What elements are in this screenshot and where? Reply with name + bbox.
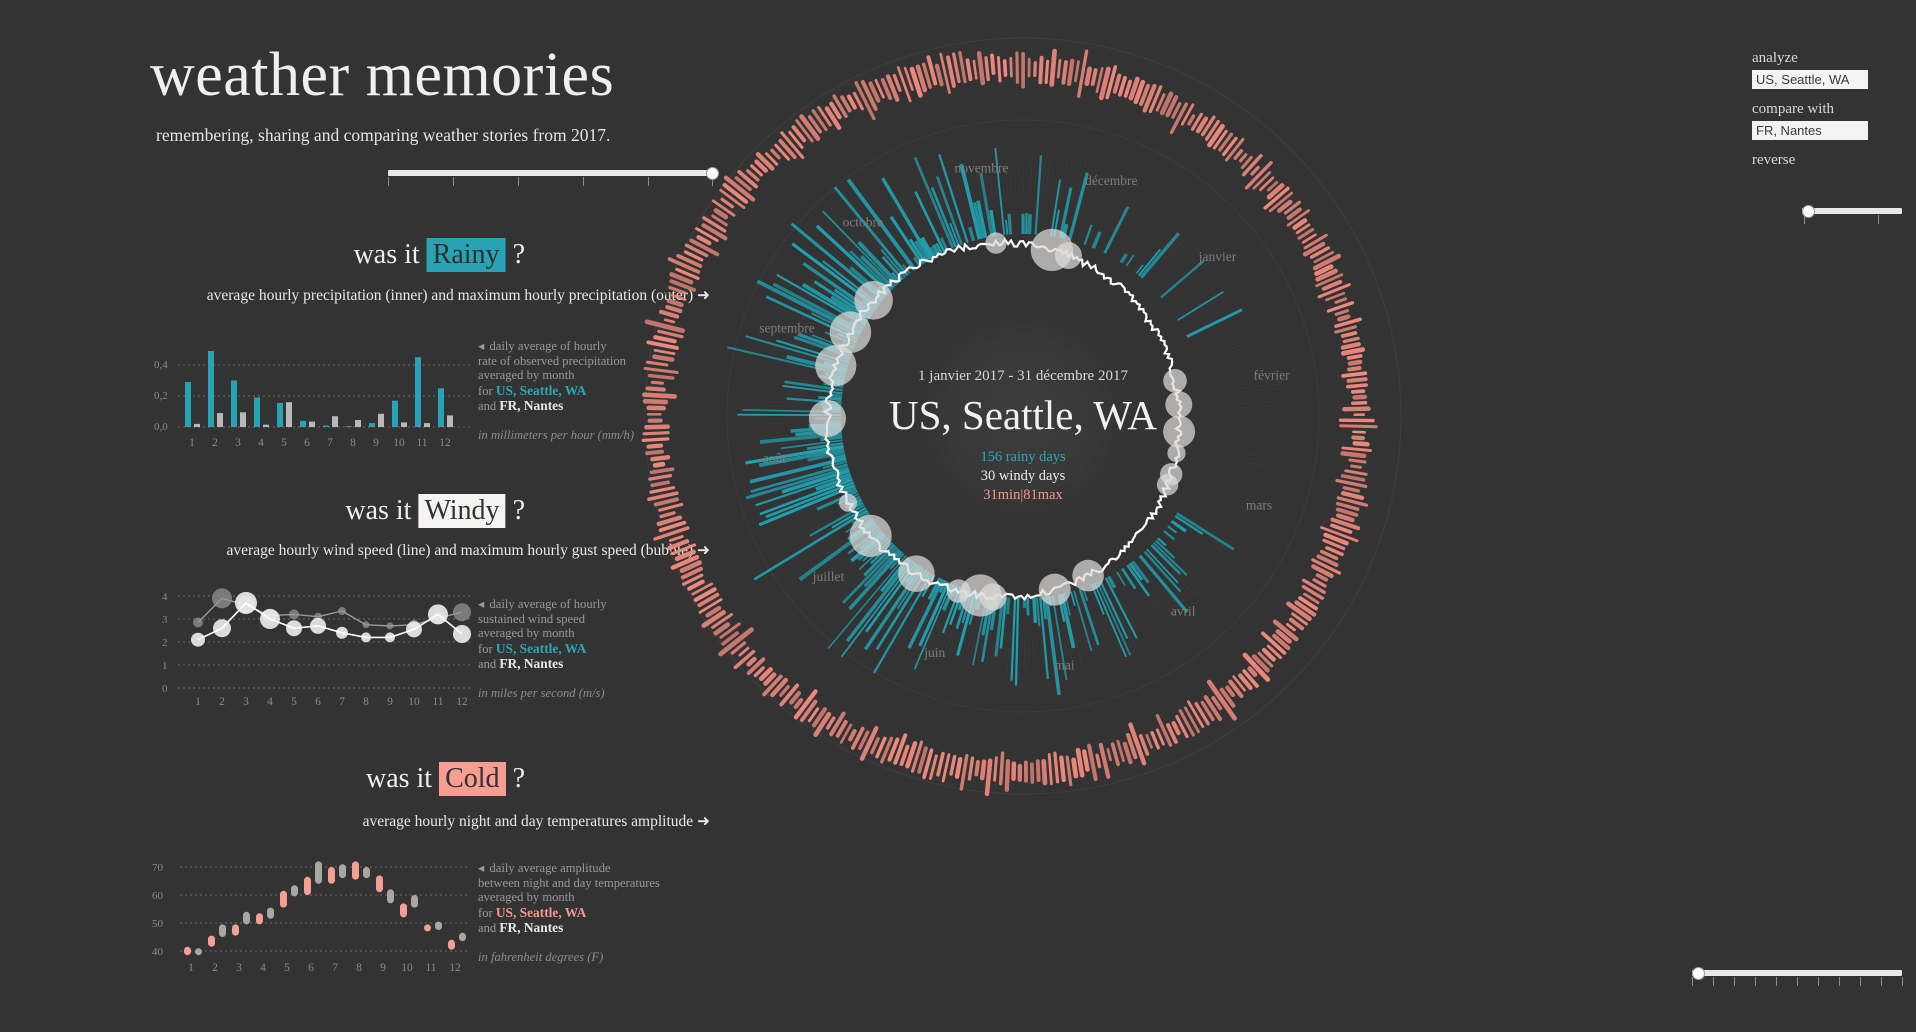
legend-arrow-icon: ◂ — [478, 597, 486, 611]
temp-gridlines — [180, 867, 470, 951]
temp-ytick-60: 60 — [152, 890, 164, 902]
svg-text:5: 5 — [284, 962, 290, 974]
heading-suffix: ? — [513, 495, 525, 526]
slider-handle[interactable] — [1802, 205, 1815, 218]
month-label-novembre: novembre — [955, 160, 1009, 175]
month-label-septembre: septembre — [759, 321, 814, 336]
temperature-chart[interactable]: 70 60 50 40 — [140, 845, 475, 975]
svg-text:10: 10 — [408, 696, 420, 708]
legend-secondary-city: FR, Nantes — [499, 398, 563, 413]
heading-prefix: was it — [366, 763, 432, 794]
svg-text:2: 2 — [212, 437, 218, 449]
svg-text:6: 6 — [315, 696, 321, 708]
section-heading-rainy: was it Rainy ? — [354, 239, 525, 271]
weather-memories-app: weather memories remembering, sharing an… — [0, 0, 1916, 1032]
wind-chart[interactable]: 4 3 2 1 0 — [150, 583, 475, 708]
legend-arrow-icon: ◂ — [478, 339, 486, 353]
legend-for-label: for — [478, 642, 493, 656]
legend-line-3: averaged by month — [478, 368, 634, 383]
legend-line-2: sustained wind speed — [478, 612, 607, 627]
svg-text:9: 9 — [387, 696, 393, 708]
analyze-select[interactable]: US, Seattle, WA — [1752, 70, 1868, 89]
svg-text:12: 12 — [449, 962, 461, 974]
slider-track[interactable] — [1692, 970, 1902, 976]
radial-svg[interactable]: 1 janvier 2017 - 31 décembre 2017 US, Se… — [620, 0, 1720, 1032]
svg-text:4: 4 — [267, 696, 273, 708]
legend-arrow-icon: ◂ — [478, 861, 486, 875]
month-label-juin: juin — [923, 645, 945, 660]
wind-legend: ◂ daily average of hourly sustained wind… — [478, 597, 607, 701]
center-rainy-days: 156 rainy days — [980, 449, 1066, 465]
heading-keyword-rainy[interactable]: Rainy — [427, 238, 506, 272]
svg-text:4: 4 — [260, 962, 266, 974]
slider-ticks — [1802, 215, 1902, 224]
wind-bubbles-nantes — [193, 588, 471, 630]
reverse-slider[interactable] — [1802, 204, 1902, 224]
legend-primary-city: US, Seattle, WA — [496, 383, 587, 398]
legend-line-1: daily average of hourly — [489, 597, 606, 611]
svg-text:7: 7 — [327, 437, 333, 449]
svg-text:1: 1 — [188, 962, 194, 974]
month-label-avril: avril — [1171, 604, 1196, 619]
svg-text:5: 5 — [291, 696, 297, 708]
analyze-label: analyze — [1752, 50, 1902, 67]
heading-suffix: ? — [513, 763, 525, 794]
legend-secondary-city: FR, Nantes — [499, 656, 563, 671]
svg-text:3: 3 — [235, 437, 241, 449]
compare-select[interactable]: FR, Nantes — [1752, 121, 1868, 140]
svg-text:12: 12 — [439, 437, 451, 449]
radial-root: 1 janvier 2017 - 31 décembre 2017 US, Se… — [643, 38, 1401, 794]
heading-keyword-cold[interactable]: Cold — [439, 762, 505, 796]
wind-xticks: 1 2 3 4 5 6 7 8 9 10 11 12 — [195, 696, 468, 708]
svg-text:10: 10 — [393, 437, 405, 449]
page-subtitle: remembering, sharing and comparing weath… — [156, 125, 610, 146]
legend-line-2: rate of observed precipitation — [478, 354, 634, 369]
month-label-octobre: octobre — [843, 215, 883, 230]
slider-ticks — [1692, 977, 1902, 986]
month-label-février: février — [1254, 368, 1290, 383]
legend-primary-city: US, Seattle, WA — [496, 641, 587, 656]
legend-for-label: for — [478, 906, 493, 920]
page-title: weather memories — [150, 40, 614, 111]
svg-text:8: 8 — [363, 696, 369, 708]
precipitation-chart[interactable]: 0,0 0,2 0,4 — [140, 330, 470, 450]
slider-handle[interactable] — [1692, 967, 1705, 980]
wind-ytick-4: 4 — [162, 591, 168, 603]
temp-ytick-70: 70 — [152, 862, 164, 874]
legend-unit: in miles per second (m/s) — [478, 686, 607, 701]
svg-text:1: 1 — [195, 696, 201, 708]
precip-ytick-0: 0,0 — [154, 421, 168, 433]
wind-ytick-2: 2 — [162, 637, 168, 649]
legend-line-1: daily average amplitude — [489, 861, 610, 875]
legend-line-3: averaged by month — [478, 626, 607, 641]
wind-ytick-1: 1 — [162, 660, 168, 672]
month-label-mai: mai — [1054, 658, 1074, 673]
svg-text:3: 3 — [243, 696, 249, 708]
temp-ytick-40: 40 — [152, 946, 164, 958]
precip-ytick-2: 0,4 — [154, 359, 168, 371]
month-label-juillet: juillet — [812, 569, 845, 584]
svg-text:9: 9 — [380, 962, 386, 974]
legend-for-label: for — [478, 384, 493, 398]
center-windy-days: 30 windy days — [981, 468, 1066, 484]
precip-xticks: 1 2 3 4 5 6 7 8 9 10 11 12 — [189, 437, 451, 449]
controls-panel: analyze US, Seattle, WA compare with FR,… — [1752, 50, 1902, 172]
svg-text:11: 11 — [432, 696, 443, 708]
legend-primary-city: US, Seattle, WA — [496, 905, 587, 920]
precip-bars-seattle — [185, 351, 444, 427]
zoom-slider[interactable] — [1692, 966, 1902, 986]
month-label-mars: mars — [1246, 497, 1272, 512]
svg-text:3: 3 — [236, 962, 242, 974]
legend-unit: in millimeters per hour (mm/h) — [478, 428, 634, 443]
reverse-label: reverse — [1752, 152, 1902, 169]
heading-prefix: was it — [354, 239, 420, 270]
temp-xticks: 1 2 3 4 5 6 7 8 9 10 11 12 — [188, 962, 461, 974]
svg-text:5: 5 — [281, 437, 287, 449]
svg-text:11: 11 — [425, 962, 436, 974]
svg-text:6: 6 — [308, 962, 314, 974]
legend-and-label: and — [478, 657, 496, 671]
temp-ytick-50: 50 — [152, 918, 164, 930]
svg-text:2: 2 — [219, 696, 225, 708]
precip-ytick-1: 0,2 — [154, 390, 168, 402]
center-date-range: 1 janvier 2017 - 31 décembre 2017 — [918, 368, 1128, 384]
svg-text:6: 6 — [304, 437, 310, 449]
legend-and-label: and — [478, 399, 496, 413]
svg-text:8: 8 — [350, 437, 356, 449]
svg-text:9: 9 — [373, 437, 379, 449]
compare-label: compare with — [1752, 101, 1902, 118]
svg-text:7: 7 — [339, 696, 345, 708]
wind-ytick-3: 3 — [162, 614, 168, 626]
heading-prefix: was it — [345, 495, 411, 526]
svg-text:1: 1 — [189, 437, 195, 449]
section-heading-cold: was it Cold ? — [366, 763, 525, 795]
center-city-name: US, Seattle, WA — [889, 392, 1157, 438]
wind-gridlines — [178, 596, 470, 688]
precipitation-legend: ◂ daily average of hourly rate of observ… — [478, 339, 634, 443]
slider-track[interactable] — [1802, 208, 1902, 214]
wind-ytick-0: 0 — [162, 683, 168, 695]
heading-suffix: ? — [513, 239, 525, 270]
heading-keyword-windy[interactable]: Windy — [418, 494, 505, 528]
center-temp-range: 31min|81max — [983, 487, 1063, 503]
svg-text:10: 10 — [401, 962, 413, 974]
svg-text:2: 2 — [212, 962, 218, 974]
svg-text:12: 12 — [456, 696, 468, 708]
svg-text:8: 8 — [356, 962, 362, 974]
legend-line-1: daily average of hourly — [489, 339, 606, 353]
radial-year-visualization[interactable]: 1 janvier 2017 - 31 décembre 2017 US, Se… — [620, 0, 1720, 1032]
svg-text:7: 7 — [332, 962, 338, 974]
svg-text:4: 4 — [258, 437, 264, 449]
month-label-août: août — [763, 451, 786, 466]
month-label-décembre: décembre — [1085, 173, 1137, 188]
month-label-janvier: janvier — [1198, 249, 1237, 264]
section-heading-windy: was it Windy ? — [345, 495, 525, 527]
svg-text:11: 11 — [416, 437, 427, 449]
legend-secondary-city: FR, Nantes — [499, 920, 563, 935]
legend-and-label: and — [478, 921, 496, 935]
